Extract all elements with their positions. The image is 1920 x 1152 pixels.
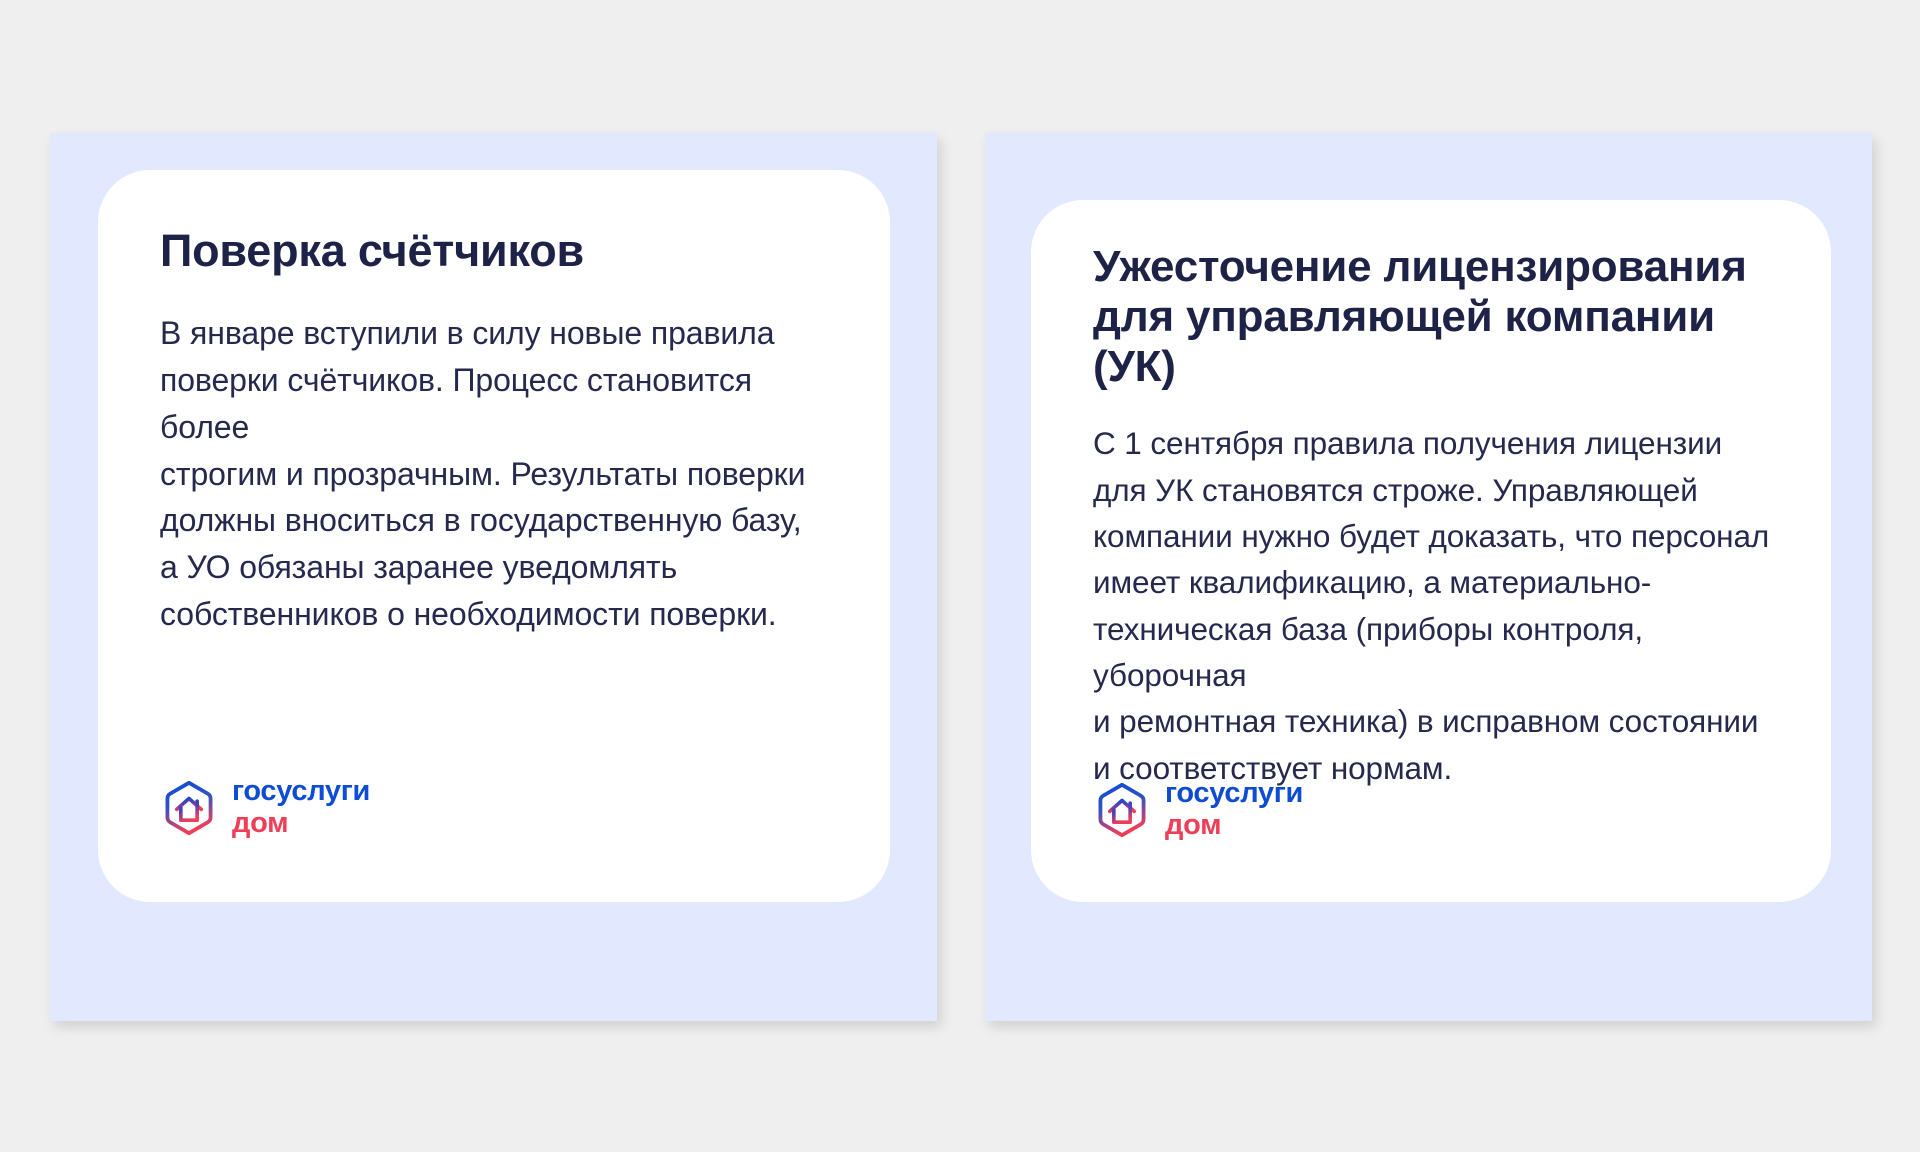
card-1-title: Поверка счётчиков <box>160 226 830 276</box>
card-2-title: Ужесточение лицензирования для управляющ… <box>1093 242 1801 392</box>
gosuslugi-dom-house-hexagon-icon <box>1093 781 1151 839</box>
card-panel-1: Поверка счётчиков В январе вступили в си… <box>50 133 937 1021</box>
logo-1-word-dom: дом <box>232 809 370 838</box>
info-card-2[interactable]: Ужесточение лицензирования для управляющ… <box>1031 200 1831 902</box>
logo-1-wordmark: госуслуги дом <box>232 777 370 838</box>
gosuslugi-dom-logo-1[interactable]: госуслуги дом <box>160 777 370 838</box>
slide-canvas: Поверка счётчиков В январе вступили в си… <box>0 0 1920 1152</box>
gosuslugi-dom-house-hexagon-icon <box>160 779 218 837</box>
card-panel-2: Ужесточение лицензирования для управляющ… <box>985 133 1872 1021</box>
gosuslugi-dom-logo-2[interactable]: госуслуги дом <box>1093 779 1303 840</box>
logo-2-word-gosuslugi: госуслуги <box>1165 779 1303 808</box>
logo-1-word-gosuslugi: госуслуги <box>232 777 370 806</box>
card-2-body-text: С 1 сентября правила получения лицензии … <box>1093 420 1801 790</box>
info-card-1[interactable]: Поверка счётчиков В январе вступили в си… <box>98 170 890 902</box>
logo-2-word-dom: дом <box>1165 811 1303 840</box>
card-1-body-text: В январе вступили в силу новые правила п… <box>160 310 830 637</box>
logo-2-wordmark: госуслуги дом <box>1165 779 1303 840</box>
